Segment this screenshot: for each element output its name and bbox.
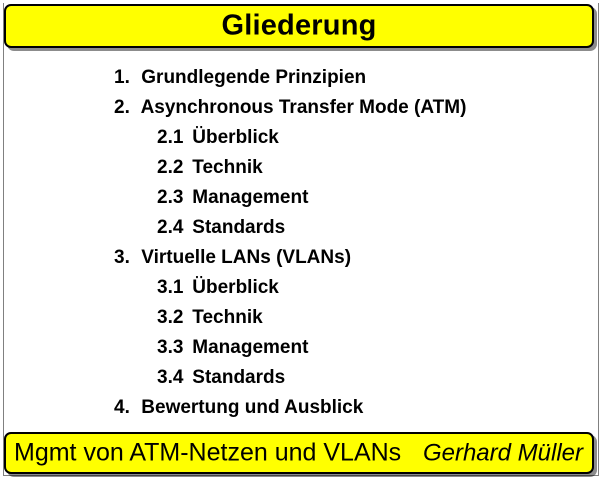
outline-item-label: Virtuelle LANs (VLANs) — [141, 247, 351, 268]
outline-item-number: 2.2 — [157, 153, 187, 183]
outline-item-number: 1. — [114, 63, 136, 93]
footer-content: Mgmt von ATM-Netzen und VLANs Gerhard Mü… — [6, 441, 592, 466]
outline-item-label: Bewertung und Ausblick — [141, 397, 363, 418]
slide-footer-banner: Mgmt von ATM-Netzen und VLANs Gerhard Mü… — [4, 432, 594, 474]
outline-item: 3.4 Standards — [0, 363, 603, 393]
outline-item: 2.4 Standards — [0, 213, 603, 243]
outline-item: 2.2 Technik — [0, 153, 603, 183]
outline-item-number: 3.4 — [157, 363, 187, 393]
outline-item-label: Standards — [192, 367, 285, 388]
outline-item-label: Technik — [192, 157, 262, 178]
outline-item: 2.1 Überblick — [0, 123, 603, 153]
outline-item-label: Standards — [192, 217, 285, 238]
outline-item-number: 3.1 — [157, 273, 187, 303]
outline-item-number: 3.2 — [157, 303, 187, 333]
slide-title-banner: Gliederung — [4, 4, 594, 48]
outline-item-number: 4. — [114, 393, 136, 423]
page-title: Gliederung — [6, 12, 592, 41]
outline-item-label: Überblick — [192, 127, 279, 148]
outline-item-number: 2.3 — [157, 183, 187, 213]
outline-item: 2. Asynchronous Transfer Mode (ATM) — [0, 93, 603, 123]
outline-list: 1. Grundlegende Prinzipien2. Asynchronou… — [0, 63, 603, 423]
outline-item: 4. Bewertung und Ausblick — [0, 393, 603, 423]
outline-item: 3.1 Überblick — [0, 273, 603, 303]
outline-item: 3.2 Technik — [0, 303, 603, 333]
outline-item: 1. Grundlegende Prinzipien — [0, 63, 603, 93]
outline-item-label: Management — [192, 337, 308, 358]
outline-item-number: 3. — [114, 243, 136, 273]
outline-item-label: Management — [192, 187, 308, 208]
outline-item: 3.3 Management — [0, 333, 603, 363]
outline-item: 3. Virtuelle LANs (VLANs) — [0, 243, 603, 273]
outline-item-number: 2. — [114, 93, 136, 123]
footer-author-text: Gerhard Müller — [423, 442, 585, 466]
outline-item-number: 2.1 — [157, 123, 187, 153]
outline-item-label: Asynchronous Transfer Mode (ATM) — [141, 97, 467, 118]
outline-item-number: 3.3 — [157, 333, 187, 363]
outline-item-label: Technik — [192, 307, 262, 328]
presentation-slide: Gliederung 1. Grundlegende Prinzipien2. … — [0, 0, 603, 480]
outline-item-label: Überblick — [192, 277, 279, 298]
outline-item: 2.3 Management — [0, 183, 603, 213]
outline-item-label: Grundlegende Prinzipien — [141, 67, 366, 88]
footer-subject-text: Mgmt von ATM-Netzen und VLANs — [14, 441, 401, 466]
outline-item-number: 2.4 — [157, 213, 187, 243]
